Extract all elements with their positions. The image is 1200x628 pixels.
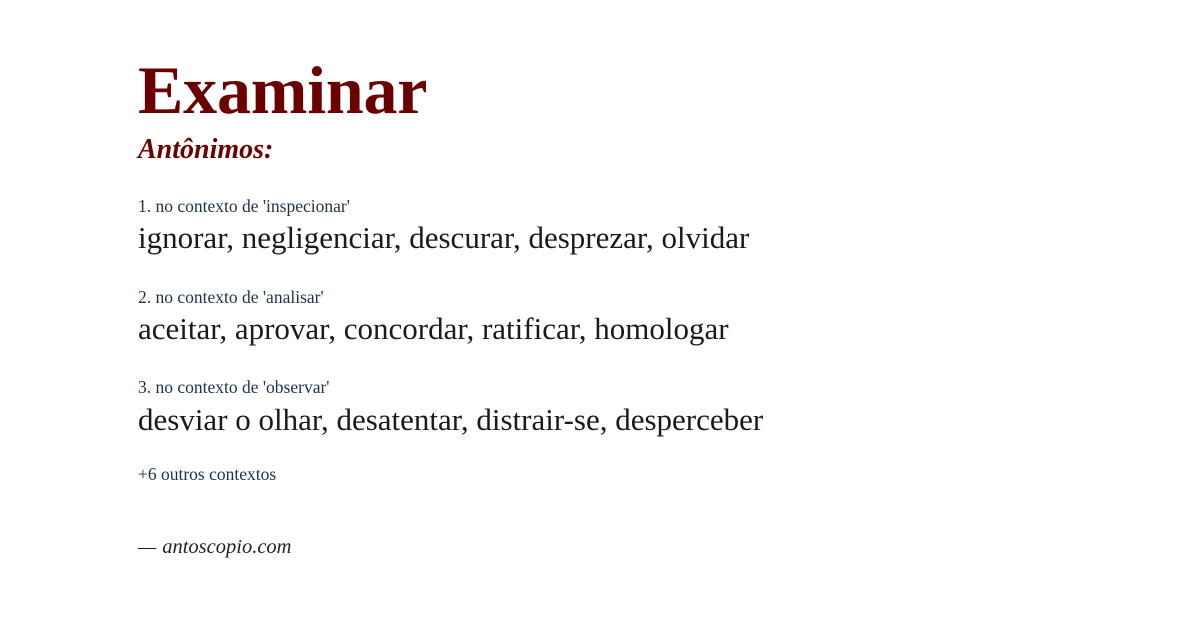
page-title: Examinar	[138, 56, 427, 124]
sense-context-label: 3. no contexto de 'observar'	[138, 377, 1158, 397]
antonyms-card: Examinar Antônimos: 1. no contexto de 'i…	[0, 0, 1200, 628]
sense-context-label: 1. no contexto de 'inspecionar'	[138, 196, 1158, 216]
sense-entry: 2. no contexto de 'analisar' aceitar, ap…	[138, 287, 1158, 348]
em-dash-glyph: —	[138, 536, 156, 558]
attribution-source: antoscopio.com	[162, 536, 291, 558]
attribution: —antoscopio.com	[138, 535, 291, 560]
card-header: Examinar Antônimos:	[138, 56, 427, 164]
sense-entry: 1. no contexto de 'inspecionar' ignorar,…	[138, 196, 1158, 257]
sense-list: 1. no contexto de 'inspecionar' ignorar,…	[138, 196, 1158, 438]
sense-antonym-list: desviar o olhar, desatentar, distrair-se…	[138, 402, 1158, 439]
sense-entry: 3. no contexto de 'observar' desviar o o…	[138, 377, 1158, 438]
more-contexts-note: +6 outros contextos	[138, 464, 276, 484]
section-subtitle: Antônimos:	[138, 136, 427, 164]
sense-antonym-list: ignorar, negligenciar, descurar, desprez…	[138, 220, 1158, 257]
sense-context-label: 2. no contexto de 'analisar'	[138, 287, 1158, 307]
sense-antonym-list: aceitar, aprovar, concordar, ratificar, …	[138, 311, 1158, 348]
